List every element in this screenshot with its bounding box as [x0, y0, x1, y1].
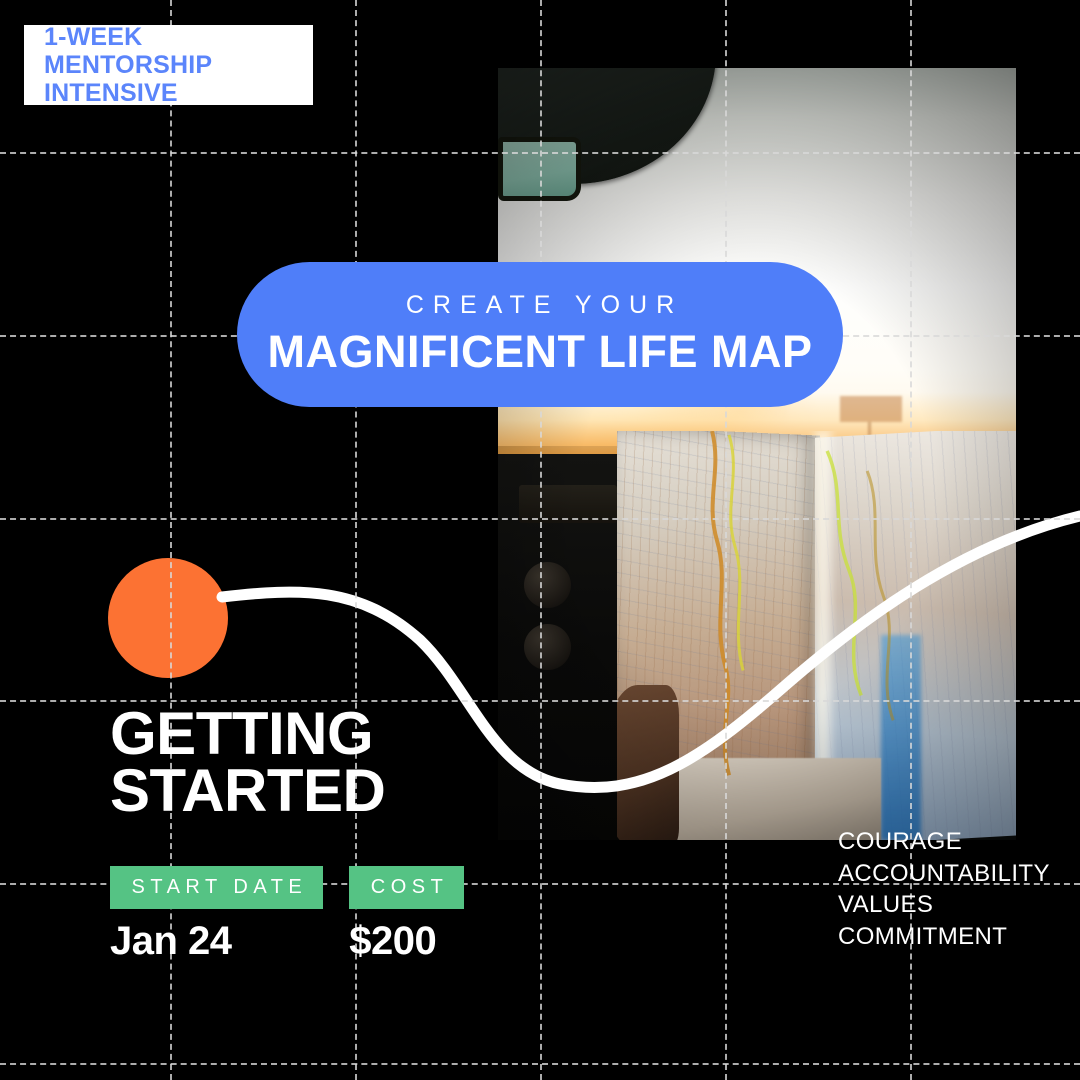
- meta-item-cost: COST $200: [349, 866, 464, 964]
- start-date-chip-label: START DATE: [110, 866, 323, 909]
- values-list-item: ACCOUNTABILITY: [838, 858, 1050, 890]
- values-list-item: COURAGE: [838, 826, 1050, 858]
- title-headline: MAGNIFICENT LIFE MAP: [268, 326, 813, 378]
- cost-value: $200: [349, 919, 464, 964]
- header-badge: 1-WEEK MENTORSHIP INTENSIVE: [24, 25, 313, 105]
- photo-vignette: [498, 68, 1016, 840]
- values-list-item: COMMITMENT: [838, 921, 1050, 953]
- header-badge-label: 1-WEEK MENTORSHIP INTENSIVE: [24, 23, 313, 107]
- section-heading: GETTING STARTED: [110, 705, 385, 819]
- road-trip-photo: [498, 68, 1016, 840]
- start-date-value: Jan 24: [110, 919, 323, 964]
- cost-chip-label: COST: [349, 866, 464, 909]
- title-pill: CREATE YOUR MAGNIFICENT LIFE MAP: [237, 262, 843, 407]
- orange-circle-accent: [108, 558, 228, 678]
- grid-line-horizontal: [0, 1063, 1080, 1065]
- values-list: COURAGE ACCOUNTABILITY VALUES COMMITMENT: [838, 826, 1050, 953]
- values-list-item: VALUES: [838, 889, 1050, 921]
- meta-row: START DATE Jan 24 COST $200: [110, 866, 464, 964]
- title-kicker: CREATE YOUR: [397, 291, 683, 320]
- meta-item-start-date: START DATE Jan 24: [110, 866, 323, 964]
- poster-canvas: 1-WEEK MENTORSHIP INTENSIVE CREATE YOUR …: [0, 0, 1080, 1080]
